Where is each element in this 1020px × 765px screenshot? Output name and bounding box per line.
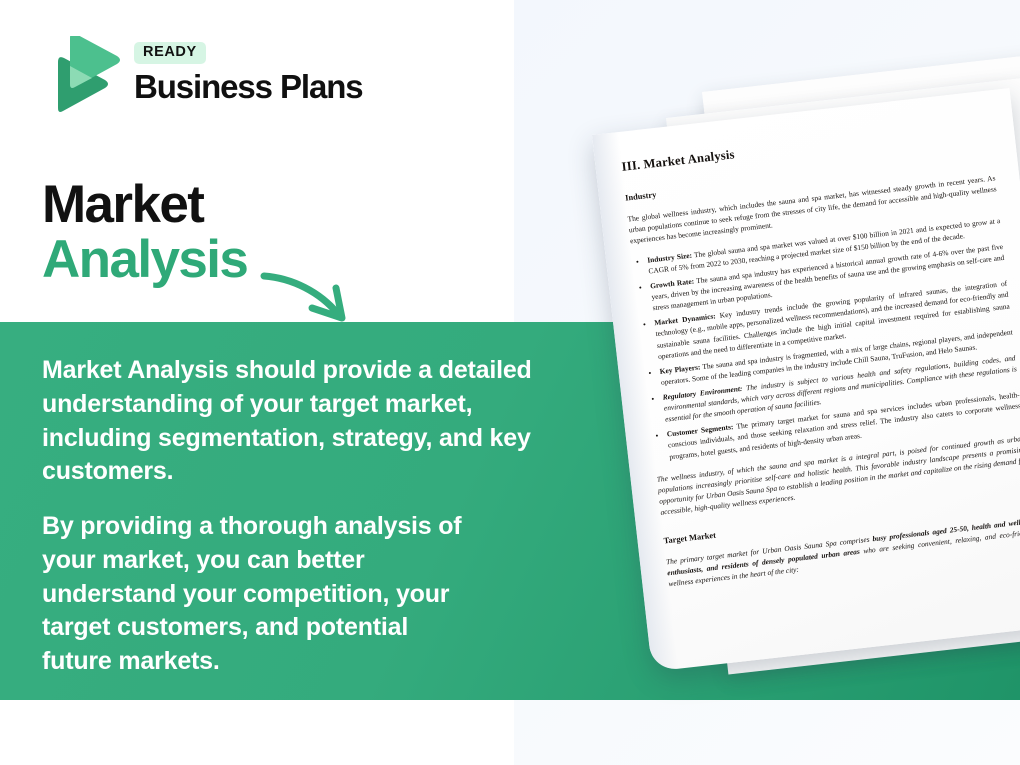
curved-arrow-down-right-icon — [258, 266, 368, 328]
page-title-line-2: Analysis — [42, 233, 247, 286]
brand-logo[interactable]: READY Business Plans — [42, 32, 342, 120]
page-title-line-1: Market — [42, 178, 247, 231]
document-bullet-list: Industry Size: The global sauna and spa … — [632, 215, 1020, 464]
page-title: Market Analysis — [42, 178, 247, 286]
band-paragraph-1: Market Analysis should provide a detaile… — [42, 354, 552, 489]
document-body: III. Market Analysis Industry The global… — [592, 88, 1020, 616]
ready-badge: READY — [134, 42, 206, 64]
brand-text-block: READY Business Plans — [134, 42, 363, 104]
band-paragraph-2: By providing a thorough analysis of your… — [42, 510, 482, 679]
brand-name: Business Plans — [134, 70, 363, 105]
slide-canvas: READY Business Plans Market Analysis Mar… — [0, 0, 1020, 765]
play-triangles-logo-icon — [42, 36, 120, 116]
document-stack: growth ent. 21 and size rate of s of una… — [514, 0, 1020, 765]
front-document-page[interactable]: III. Market Analysis Industry The global… — [592, 88, 1020, 671]
